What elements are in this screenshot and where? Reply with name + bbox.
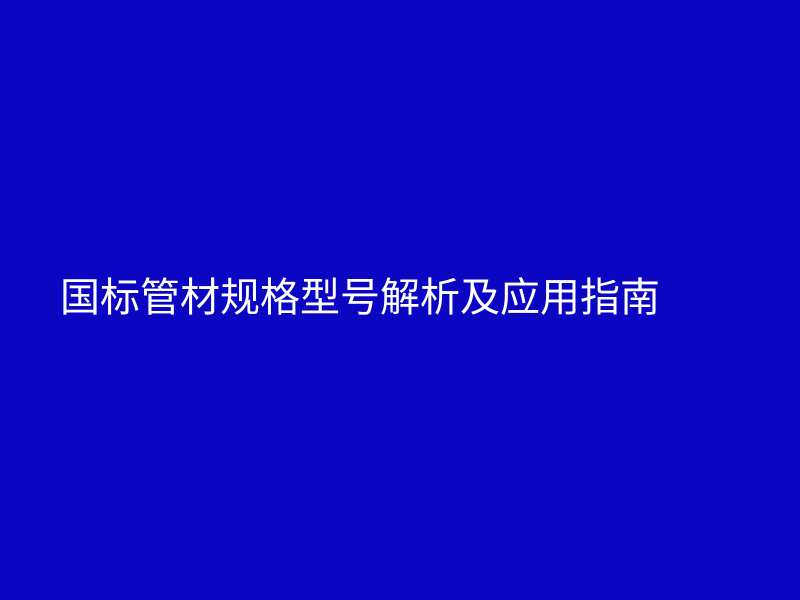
title-block: 国标管材规格型号解析及应用指南 (60, 266, 760, 330)
page-title: 国标管材规格型号解析及应用指南 (60, 276, 660, 320)
title-slide: 国标管材规格型号解析及应用指南 (0, 0, 800, 600)
